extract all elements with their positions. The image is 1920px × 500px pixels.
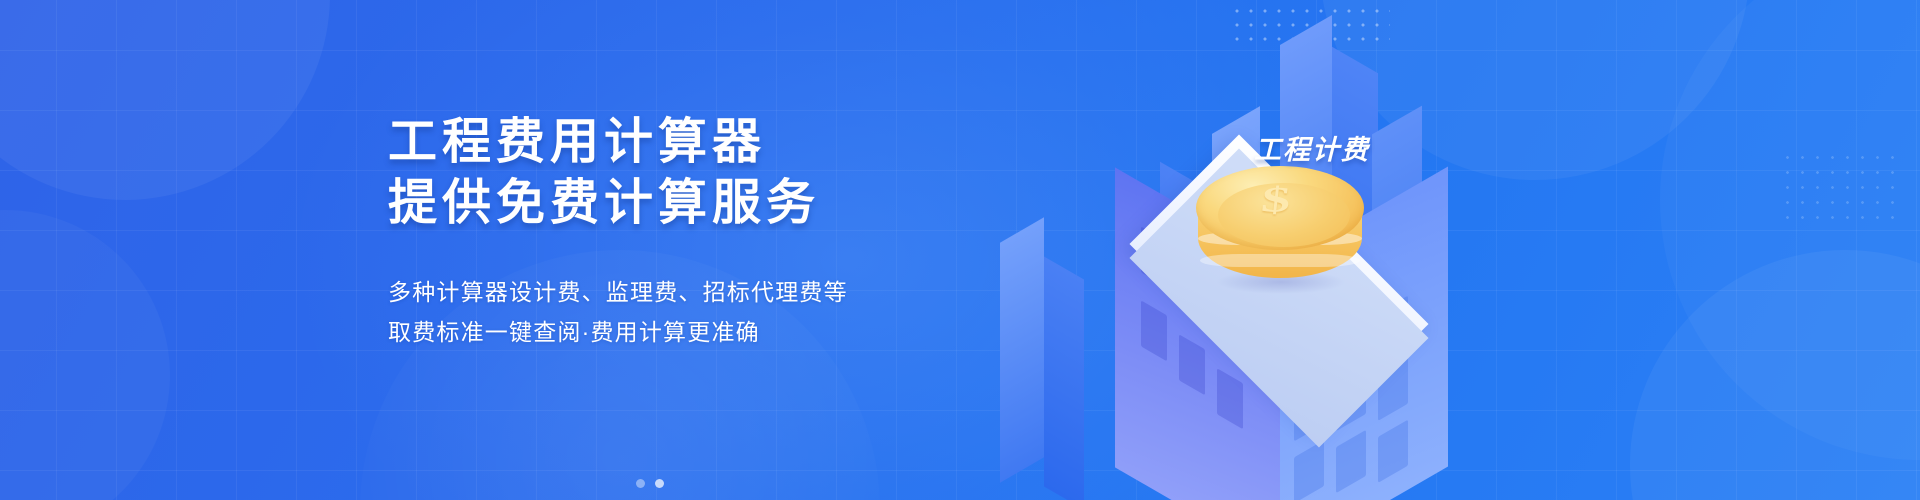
gold-coin: $: [1192, 158, 1368, 308]
hero-headline: 工程费用计算器 提供免费计算服务: [388, 112, 848, 234]
subtitle-line-1: 多种计算器设计费、监理费、招标代理费等: [388, 272, 848, 312]
headline-line-2: 提供免费计算服务: [388, 173, 848, 234]
building-bar-e: [1000, 217, 1044, 482]
tower-window: [1141, 300, 1167, 361]
tower-window: [1217, 368, 1243, 429]
carousel-dot-1[interactable]: [636, 479, 645, 488]
tower-window: [1179, 334, 1205, 395]
dot-grid-pattern-right: [1780, 150, 1900, 220]
carousel-indicators[interactable]: [636, 479, 664, 488]
hero-subtitle: 多种计算器设计费、监理费、招标代理费等 取费标准一键查阅·费用计算更准确: [388, 272, 848, 352]
tower-window: [1336, 430, 1366, 493]
illustration-label: 工程计费: [1254, 128, 1370, 167]
hero-banner: 工程费用计算器 提供免费计算服务 多种计算器设计费、监理费、招标代理费等 取费标…: [0, 0, 1920, 500]
building-bar-f: [1044, 256, 1084, 500]
coin-ring: [1200, 254, 1360, 267]
carousel-dot-2[interactable]: [655, 479, 664, 488]
tower-window: [1378, 420, 1408, 483]
tower-window: [1294, 440, 1324, 500]
headline-line-1: 工程费用计算器: [388, 115, 766, 169]
hero-illustration: $ 工程计费: [980, 0, 1600, 500]
subtitle-line-2: 取费标准一键查阅·费用计算更准确: [388, 312, 848, 352]
dollar-sign-icon: $: [1190, 179, 1363, 221]
hero-copy-block: 工程费用计算器 提供免费计算服务 多种计算器设计费、监理费、招标代理费等 取费标…: [388, 112, 848, 352]
